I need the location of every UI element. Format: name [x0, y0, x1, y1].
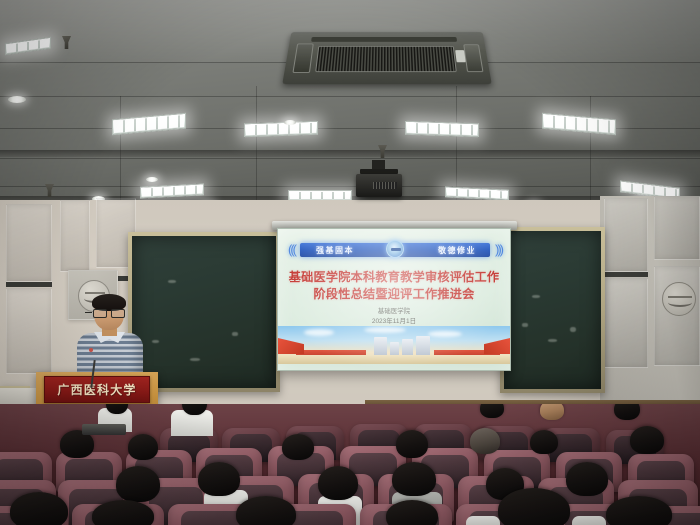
emblem-swoosh	[668, 298, 692, 307]
ceiling-light-panel	[112, 113, 186, 135]
chalkboard-right	[500, 227, 605, 393]
banner-bracket-left-icon: (((	[288, 242, 295, 257]
speaker-shirt-logo	[89, 348, 93, 352]
audience-head	[614, 404, 640, 420]
audience-head	[392, 462, 436, 496]
ceiling-downlight	[284, 120, 296, 125]
campus-building	[416, 336, 430, 356]
audience-head	[386, 500, 438, 525]
audience-head	[540, 404, 564, 420]
ac-vent-left	[292, 43, 313, 73]
audience-head	[630, 426, 664, 454]
cloud	[428, 331, 462, 337]
banner-bracket-right-icon: )))	[495, 242, 502, 257]
ac-vent-right	[463, 44, 483, 72]
glasses-icon	[93, 309, 125, 316]
chalkboard-right-surface	[504, 231, 601, 389]
campus-banner-red	[484, 338, 510, 354]
ceiling-seam	[0, 158, 700, 159]
chalk-smudge	[152, 340, 159, 343]
audience-area	[0, 404, 700, 525]
audience-head	[128, 434, 158, 460]
campus-ground	[278, 355, 510, 364]
ceiling-ac-unit-icon	[282, 32, 492, 84]
ceiling-seam	[0, 186, 700, 187]
campus-building	[402, 339, 413, 356]
front-equipment	[82, 424, 126, 435]
projector-body	[356, 174, 402, 197]
wall-panel-tile	[6, 288, 52, 374]
audience-head	[480, 404, 504, 418]
podium-sign-text: 广西医科大学	[57, 381, 136, 398]
campus-banner-red	[278, 338, 304, 354]
slide-subtitle: 基础医学院 2023年11月1日	[278, 307, 510, 327]
projection-screen: ((( 强基固本 敬德修业 ))) 基础医学院本科教育教学审核评估工作 阶段性总…	[277, 228, 511, 371]
campus-building	[374, 337, 387, 356]
ac-grille	[315, 46, 457, 72]
ceiling-projector-icon	[356, 170, 402, 197]
ceiling-downlight	[146, 177, 158, 182]
wall-panel-tile	[60, 200, 90, 272]
chalk-smudge	[168, 280, 176, 283]
slide-campus-photo	[278, 326, 510, 364]
audience-head	[566, 462, 608, 496]
chalk-smudge	[232, 332, 238, 336]
medal-icon	[386, 240, 404, 258]
wall-accent-band	[6, 282, 52, 287]
wall-panel-tile	[604, 198, 648, 272]
wall-panel-tile	[654, 266, 700, 366]
audience-head	[530, 430, 558, 454]
chalkboard-ledge	[504, 311, 601, 315]
chalk-smudge	[532, 295, 540, 298]
wall-accent-band	[604, 272, 648, 277]
audience-head	[498, 488, 570, 525]
ceiling	[0, 0, 700, 222]
slide-banner: ((( 强基固本 敬德修业 )))	[288, 241, 502, 260]
audience-torso	[572, 516, 606, 525]
audience-head	[92, 500, 154, 525]
ceiling-light-panel	[244, 121, 318, 138]
audience-head	[236, 496, 296, 525]
chalk-smudge	[548, 339, 557, 342]
chalkboard-ledge	[132, 310, 276, 314]
ceiling-beam	[0, 150, 700, 157]
audience-head	[282, 434, 314, 460]
wall-panel-tile	[6, 204, 52, 282]
chalkboard-left-surface	[132, 236, 276, 388]
campus-building	[390, 342, 399, 356]
podium-sign: 广西医科大学	[44, 376, 150, 403]
auditorium-photo: ((( 强基固本 敬德修业 ))) 基础医学院本科教育教学审核评估工作 阶段性总…	[0, 0, 700, 525]
audience-head	[10, 492, 68, 525]
slide-title-line-2: 阶段性总结暨迎评工作推进会	[286, 286, 502, 303]
slide-title: 基础医学院本科教育教学审核评估工作 阶段性总结暨迎评工作推进会	[286, 269, 502, 303]
audience-head	[116, 466, 160, 502]
slide-title-line-1: 基础医学院本科教育教学审核评估工作	[286, 269, 502, 286]
ac-top-slot	[311, 37, 457, 42]
wall-panel-tile	[604, 278, 648, 368]
wall-panel-tile	[654, 196, 700, 260]
projector-lens	[361, 181, 370, 190]
audience-head	[606, 496, 672, 525]
projector-vent	[373, 182, 397, 189]
wall-emblem-icon	[662, 282, 696, 316]
slide-org: 基础医学院	[278, 307, 510, 317]
ceiling-downlight	[8, 96, 26, 103]
cloud	[364, 327, 406, 333]
chalk-smudge	[522, 323, 528, 327]
audience-head	[198, 462, 240, 496]
glasses-bridge	[85, 312, 92, 313]
banner-text-left: 强基固本	[316, 245, 354, 256]
ceiling-light-panel	[405, 121, 479, 138]
audience-head	[396, 430, 428, 458]
audience-head	[318, 466, 358, 500]
audience-head	[470, 428, 500, 454]
chalkboard-left	[128, 232, 280, 392]
ceiling-seam	[0, 96, 700, 97]
chalk-smudge	[190, 358, 200, 361]
audience-torso	[466, 516, 500, 525]
chalk-smudge	[570, 327, 576, 332]
right-wall-panels	[600, 196, 700, 411]
banner-text-right: 敬德修业	[438, 245, 476, 256]
cloud	[304, 329, 334, 336]
ceiling-light-panel	[542, 113, 616, 135]
